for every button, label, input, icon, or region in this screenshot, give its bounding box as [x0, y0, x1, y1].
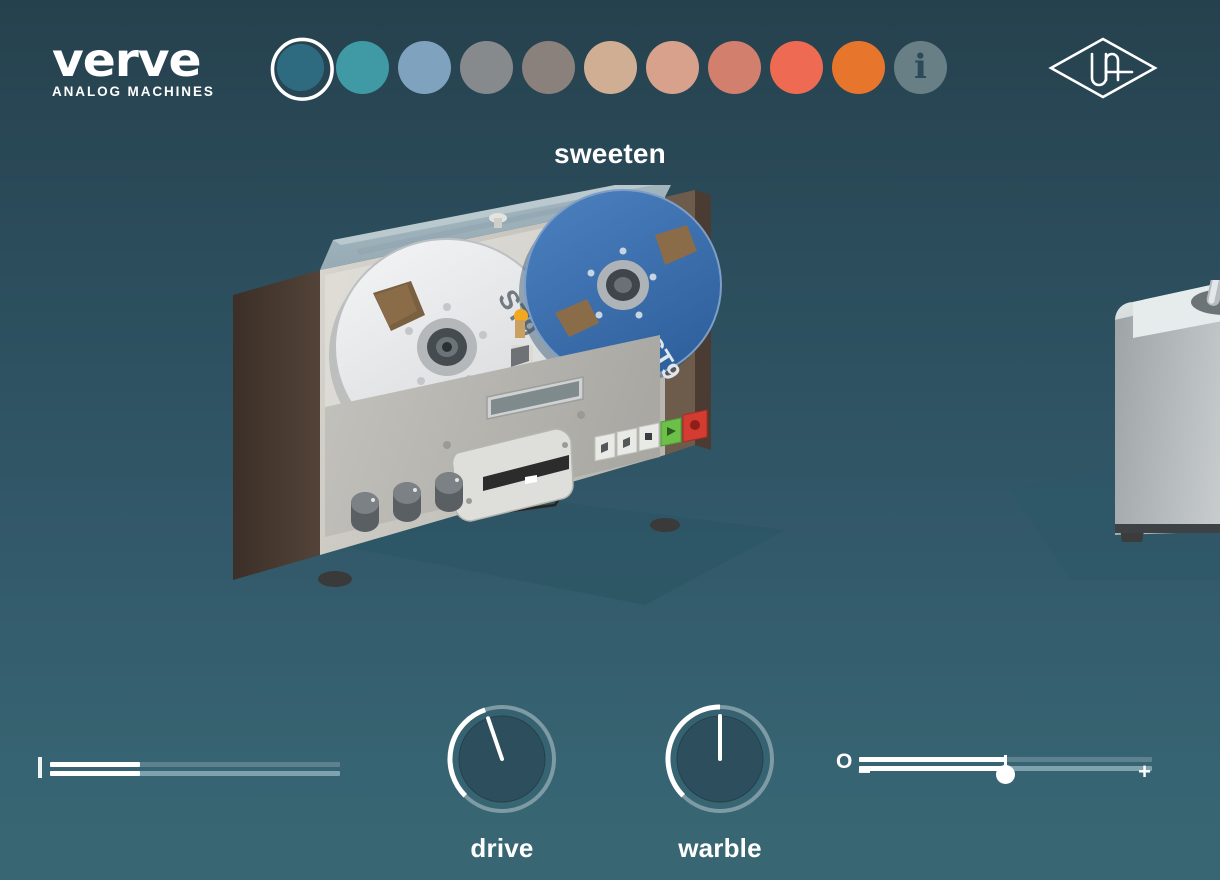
machine-stage: ST9 ST9	[0, 185, 1220, 655]
swatch-teal[interactable]	[336, 41, 389, 94]
brand-name: verve	[52, 38, 239, 82]
control-bar: drive warble O	[0, 655, 1220, 880]
info-button[interactable]: i	[894, 41, 947, 94]
input-slider-label	[38, 757, 42, 778]
next-machine-svg	[1010, 280, 1220, 580]
warble-knob-dial[interactable]	[661, 700, 779, 818]
swatch-salmon[interactable]	[708, 41, 761, 94]
warble-knob[interactable]: warble	[660, 700, 780, 864]
warble-knob-label: warble	[660, 833, 780, 864]
machine-carousel-next[interactable]	[1010, 280, 1220, 580]
ua-diamond-icon	[1048, 36, 1158, 100]
top-bar: verve ANALOG MACHINES i	[0, 0, 1220, 136]
swatch-steel-blue[interactable]	[398, 41, 451, 94]
universal-audio-logo[interactable]	[1048, 36, 1158, 100]
drive-knob-label: drive	[442, 833, 562, 864]
swatch-orange[interactable]	[832, 41, 885, 94]
input-track-row-top	[50, 762, 340, 767]
output-slider-handle[interactable]	[996, 765, 1015, 784]
swatch-gray[interactable]	[460, 41, 513, 94]
output-level-slider[interactable]: O − +	[836, 743, 1156, 793]
output-decrease-label[interactable]: −	[858, 761, 871, 783]
input-fill-top	[50, 762, 140, 767]
input-fill-bottom	[50, 771, 140, 776]
tape-machine-illustration[interactable]: ST9 ST9	[225, 185, 885, 645]
color-swatch-row: i	[274, 41, 947, 94]
output-fill-top	[859, 757, 1006, 762]
output-slider-label: O	[836, 751, 852, 772]
drive-knob[interactable]: drive	[442, 700, 562, 864]
verve-plugin-window: verve ANALOG MACHINES i sweeten	[0, 0, 1220, 880]
input-track-row-bottom	[50, 771, 340, 776]
drive-knob-dial[interactable]	[443, 700, 561, 818]
swatch-coral[interactable]	[770, 41, 823, 94]
preset-name[interactable]: sweeten	[0, 138, 1220, 170]
brand-logo: verve ANALOG MACHINES	[52, 38, 228, 100]
swatch-tan[interactable]	[584, 41, 637, 94]
input-level-slider[interactable]	[36, 747, 356, 787]
output-fill-bottom	[859, 766, 1006, 771]
swatch-teal-dark[interactable]	[277, 44, 324, 91]
swatch-warm-gray[interactable]	[522, 41, 575, 94]
swatch-blush[interactable]	[646, 41, 699, 94]
output-increase-label[interactable]: +	[1138, 761, 1151, 783]
info-icon: i	[914, 50, 927, 84]
input-slider-track[interactable]	[50, 760, 340, 776]
tape-machine-svg: ST9 ST9	[225, 185, 885, 645]
